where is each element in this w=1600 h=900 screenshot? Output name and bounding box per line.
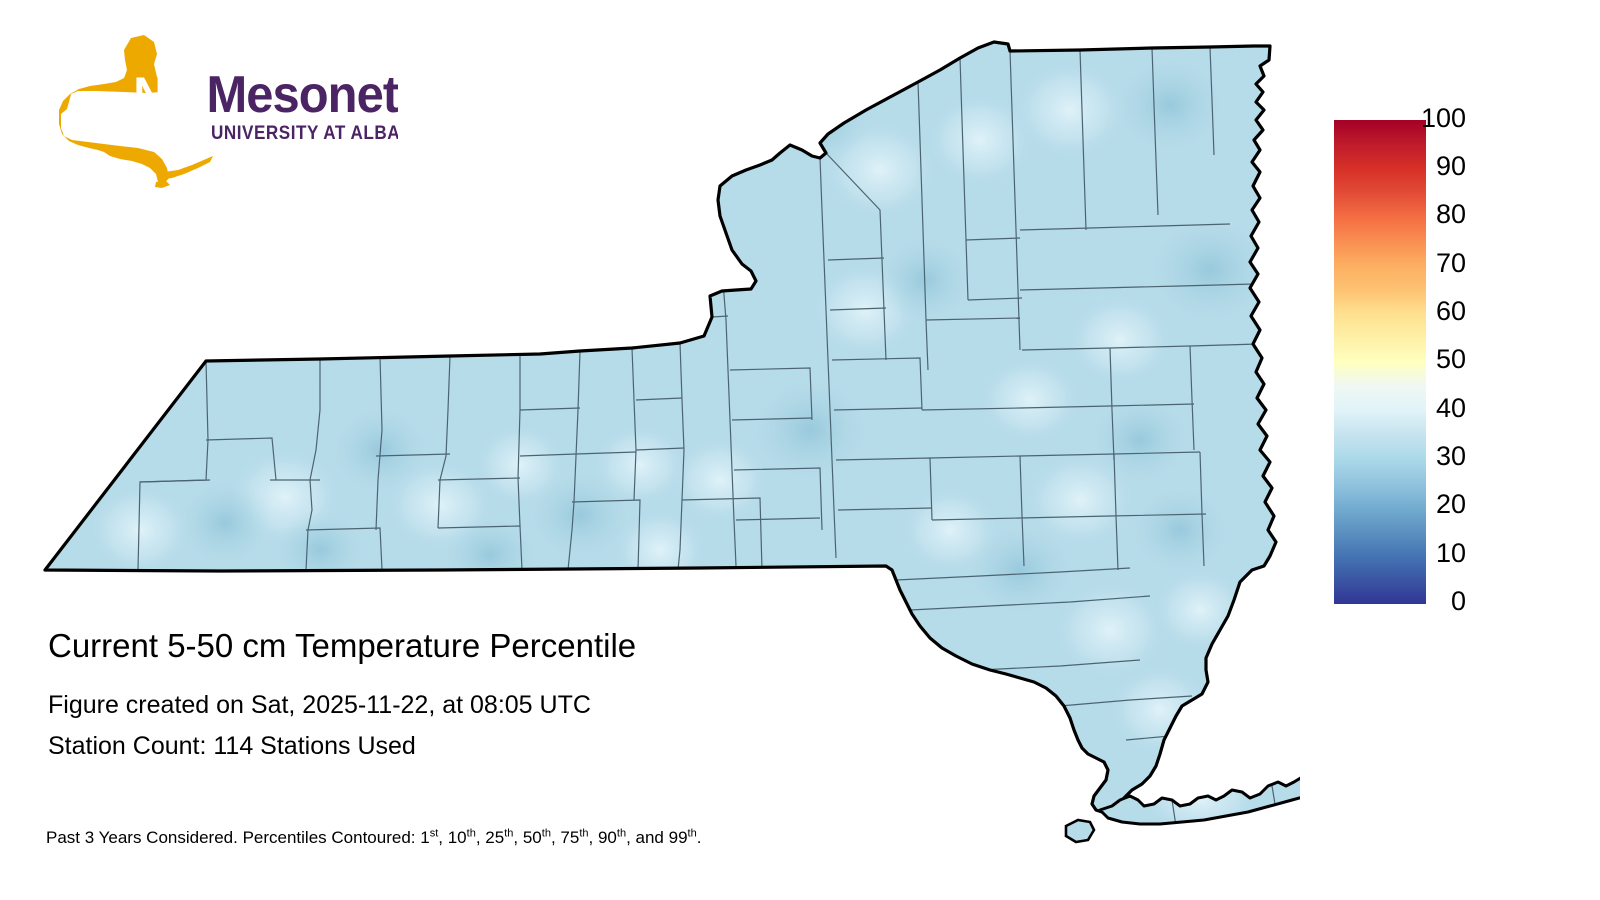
colorbar-tick-70: 70 xyxy=(1386,250,1466,277)
colorbar-tick-labels: 100 90 80 70 60 50 40 30 20 10 0 xyxy=(1430,105,1506,619)
figure-title: Current 5-50 cm Temperature Percentile xyxy=(48,626,1048,666)
footnote-percentile-suffix-10: th xyxy=(467,827,476,839)
footnote-separator: , xyxy=(551,828,560,847)
footnote-percentile-suffix-50: th xyxy=(542,827,551,839)
figure-station-count: Station Count: 114 Stations Used xyxy=(48,730,1048,762)
footnote-separator: , xyxy=(438,828,447,847)
footnote-percentile-value-25: 25 xyxy=(485,828,504,847)
footnote-percentile-list: 1st, 10th, 25th, 50th, 75th, 90th, and 9… xyxy=(420,828,697,847)
staten-island xyxy=(1066,820,1094,842)
footnote-separator: , xyxy=(513,828,522,847)
colorbar-tick-50: 50 xyxy=(1386,346,1466,373)
figure-caption-block: Current 5-50 cm Temperature Percentile F… xyxy=(48,626,1048,762)
footnote-percentile-suffix-1: st xyxy=(430,827,439,839)
footnote-tail: . xyxy=(697,828,702,847)
colorbar-tick-40: 40 xyxy=(1386,395,1466,422)
colorbar-tick-30: 30 xyxy=(1386,443,1466,470)
figure-footnote: Past 3 Years Considered. Percentiles Con… xyxy=(46,827,701,849)
footnote-separator: , xyxy=(476,828,485,847)
colorbar-tick-10: 10 xyxy=(1386,540,1466,567)
colorbar-tick-90: 90 xyxy=(1386,153,1466,180)
footnote-percentile-value-75: 75 xyxy=(560,828,579,847)
colorbar-tick-20: 20 xyxy=(1386,491,1466,518)
footnote-percentile-suffix-75: th xyxy=(579,827,588,839)
footnote-percentile-suffix-25: th xyxy=(504,827,513,839)
footnote-lead: Past 3 Years Considered. Percentiles Con… xyxy=(46,828,420,847)
footnote-percentile-value-99: 99 xyxy=(669,828,688,847)
footnote-percentile-value-50: 50 xyxy=(523,828,542,847)
footnote-percentile-suffix-90: th xyxy=(617,827,626,839)
footnote-percentile-value-90: 90 xyxy=(598,828,617,847)
colorbar-tick-0: 0 xyxy=(1386,588,1466,615)
colorbar-tick-100: 100 xyxy=(1386,105,1466,132)
colorbar-tick-80: 80 xyxy=(1386,201,1466,228)
footnote-separator: , and xyxy=(626,828,669,847)
figure-created-timestamp: Figure created on Sat, 2025-11-22, at 08… xyxy=(48,689,1048,721)
colorbar-tick-60: 60 xyxy=(1386,298,1466,325)
footnote-percentile-value-1: 1 xyxy=(420,828,429,847)
footnote-percentile-value-10: 10 xyxy=(448,828,467,847)
footnote-percentile-suffix-99: th xyxy=(688,827,697,839)
footnote-separator: , xyxy=(589,828,598,847)
